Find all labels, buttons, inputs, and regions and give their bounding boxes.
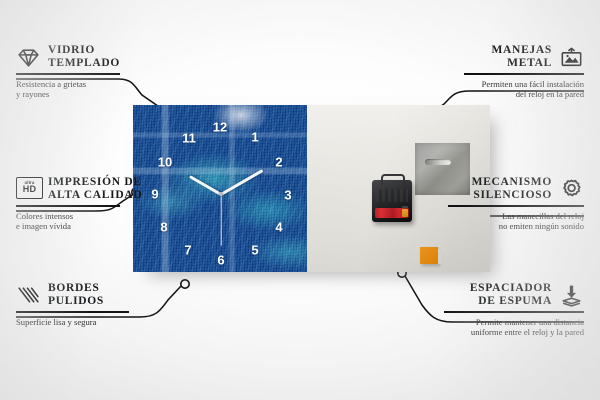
clock-numeral: 9 bbox=[151, 188, 158, 201]
clock-numeral: 6 bbox=[217, 254, 224, 267]
feature-title: MANEJAS METAL bbox=[492, 44, 553, 70]
feature-title: ESPACIADOR DE ESPUMA bbox=[470, 282, 552, 308]
clock-numeral: 10 bbox=[158, 156, 172, 169]
feature-rule bbox=[16, 73, 120, 75]
feature-subtitle: Superficie lisa y segura bbox=[16, 317, 146, 327]
ultra-hd-icon: ultra HD bbox=[16, 177, 41, 202]
feature-subtitle-line2: e imagen vívida bbox=[16, 221, 71, 231]
feature-heading: ESPACIADOR DE ESPUMA bbox=[444, 282, 584, 308]
foam-spacer bbox=[420, 247, 438, 264]
feature-title-line1: ESPACIADOR bbox=[470, 282, 552, 294]
feature-title-line1: IMPRESIÓN DE bbox=[48, 176, 142, 188]
feature-subtitle: Permiten una fácil instalación del reloj… bbox=[464, 79, 584, 100]
feature-bordes-pulidos: BORDES PULIDOS Superficie lisa y segura bbox=[16, 282, 146, 327]
clock-numeral: 3 bbox=[284, 189, 291, 202]
feature-heading: ultra HD IMPRESIÓN DE ALTA CALIDAD bbox=[16, 176, 148, 202]
feature-subtitle-line2: uniforme entre el reloj y la pared bbox=[471, 327, 584, 337]
hanger-slot bbox=[425, 159, 451, 165]
feature-subtitle: Colores intensos e imagen vívida bbox=[16, 211, 148, 232]
wall-hanger-icon bbox=[559, 45, 584, 70]
feature-subtitle-line1: Resistencia a grietas bbox=[16, 79, 86, 89]
feature-title-line1: VIDRIO bbox=[48, 44, 95, 56]
gear-icon bbox=[559, 177, 584, 202]
infographic-canvas: 12 1 2 3 4 5 6 7 8 9 10 11 bbox=[0, 0, 600, 400]
feature-subtitle-line1: Superficie lisa y segura bbox=[16, 317, 96, 327]
clock-numerals: 12 1 2 3 4 5 6 7 8 9 10 11 bbox=[133, 105, 307, 272]
clock-numeral: 11 bbox=[182, 132, 196, 145]
feature-title-line2: DE ESPUMA bbox=[478, 295, 552, 307]
ultra-hd-icon-big-text: HD bbox=[23, 185, 37, 194]
clock-second-hand bbox=[220, 194, 221, 246]
feature-vidrio-templado: VIDRIO TEMPLADO Resistencia a grietas y … bbox=[16, 44, 136, 99]
feature-subtitle-line2: no emiten ningún sonido bbox=[499, 221, 584, 231]
feature-title: IMPRESIÓN DE ALTA CALIDAD bbox=[48, 176, 142, 202]
feature-impresion-alta-calidad: ultra HD IMPRESIÓN DE ALTA CALIDAD Color… bbox=[16, 176, 148, 231]
feature-title-line2: PULIDOS bbox=[48, 295, 104, 307]
feature-subtitle: Resistencia a grietas y rayones bbox=[16, 79, 136, 100]
feature-heading: MECANISMO SILENCIOSO bbox=[448, 176, 584, 202]
feature-title: MECANISMO SILENCIOSO bbox=[472, 176, 552, 202]
clock-numeral: 12 bbox=[213, 121, 227, 134]
feature-subtitle-line1: Colores intensos bbox=[16, 211, 73, 221]
clock-numeral: 2 bbox=[275, 156, 282, 169]
feature-heading: VIDRIO TEMPLADO bbox=[16, 44, 136, 70]
feature-subtitle-line2: del reloj en la pared bbox=[516, 89, 584, 99]
clock-numeral: 4 bbox=[275, 221, 282, 234]
feature-title-line2: ALTA CALIDAD bbox=[48, 189, 142, 201]
feature-subtitle-line1: Permiten una fácil instalación bbox=[482, 79, 584, 89]
feature-heading: BORDES PULIDOS bbox=[16, 282, 146, 308]
polished-edges-icon bbox=[16, 283, 41, 308]
foam-spacer-icon bbox=[559, 283, 584, 308]
battery bbox=[375, 208, 409, 218]
clock-numeral: 5 bbox=[251, 244, 258, 257]
clock-mechanism bbox=[372, 180, 412, 222]
wall-clock: 12 1 2 3 4 5 6 7 8 9 10 11 bbox=[133, 105, 307, 272]
feature-rule bbox=[444, 311, 584, 313]
feature-title-line2: SILENCIOSO bbox=[473, 189, 552, 201]
feature-espaciador-espuma: ESPACIADOR DE ESPUMA Permite mantener un… bbox=[444, 282, 584, 337]
clock-numeral: 7 bbox=[184, 244, 191, 257]
feature-title-line1: BORDES bbox=[48, 282, 100, 294]
feature-heading: MANEJAS METAL bbox=[464, 44, 584, 70]
feature-title-line1: MANEJAS bbox=[492, 44, 553, 56]
mechanism-hook bbox=[381, 174, 405, 185]
feature-title: VIDRIO TEMPLADO bbox=[48, 44, 120, 70]
feature-rule bbox=[464, 73, 584, 75]
feature-mecanismo-silencioso: MECANISMO SILENCIOSO Las manecillas del … bbox=[448, 176, 584, 231]
diamond-icon bbox=[16, 45, 41, 70]
connector-node-bordes bbox=[181, 280, 189, 288]
feature-manejas-metal: MANEJAS METAL Permiten una fácil instala… bbox=[464, 44, 584, 99]
feature-title: BORDES PULIDOS bbox=[48, 282, 104, 308]
clock-numeral: 1 bbox=[251, 131, 258, 144]
feature-subtitle: Permite mantener una distancia uniforme … bbox=[444, 317, 584, 338]
feature-title-line2: TEMPLADO bbox=[48, 57, 120, 69]
feature-subtitle-line1: Permite mantener una distancia bbox=[476, 317, 584, 327]
feature-rule bbox=[448, 205, 584, 207]
feature-subtitle-line2: y rayones bbox=[16, 89, 49, 99]
clock-numeral: 8 bbox=[160, 221, 167, 234]
feature-subtitle-line1: Las manecillas del reloj bbox=[502, 211, 584, 221]
feature-subtitle: Las manecillas del reloj no emiten ningú… bbox=[448, 211, 584, 232]
feature-title-line1: MECANISMO bbox=[472, 176, 552, 188]
mechanism-label bbox=[402, 206, 408, 209]
feature-title-line2: METAL bbox=[507, 57, 552, 69]
product-photo: 12 1 2 3 4 5 6 7 8 9 10 11 bbox=[133, 105, 490, 272]
clock-center-pin bbox=[219, 192, 223, 196]
mechanism-ridges bbox=[376, 189, 408, 202]
feature-rule bbox=[16, 205, 120, 207]
feature-rule bbox=[16, 311, 129, 313]
